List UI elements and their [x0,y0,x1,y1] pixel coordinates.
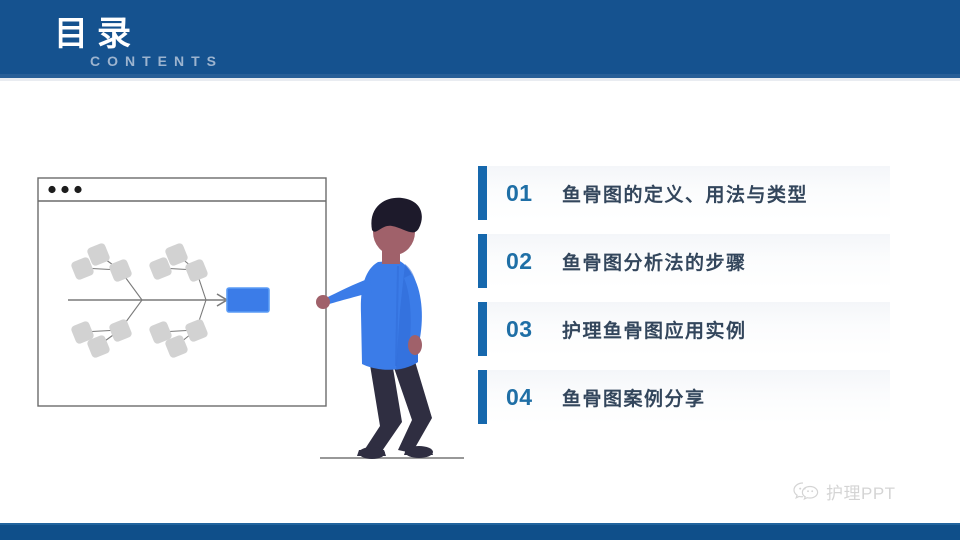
page-subtitle: CONTENTS [90,52,223,70]
header-underline [0,78,960,81]
browser-dot-icon [74,186,81,193]
footer-sheen [0,523,960,525]
menu-item-label: 鱼骨图分析法的步骤 [562,248,747,275]
browser-dot-icon [61,186,68,193]
menu-accent-bar [478,302,487,356]
presentation-slide: 目录 CONTENTS [0,0,960,540]
page-title: 目录 [54,14,140,54]
menu-item-label: 鱼骨图的定义、用法与类型 [562,180,808,207]
menu-item-02[interactable]: 02 鱼骨图分析法的步骤 [478,234,890,288]
wechat-icon [793,481,819,501]
menu-item-label: 鱼骨图案例分享 [562,384,706,411]
watermark-text: 护理PPT [826,479,896,504]
menu-accent-bar [478,234,487,288]
browser-mockup [38,178,326,406]
menu-item-label: 护理鱼骨图应用实例 [562,316,747,343]
menu-item-number: 04 [506,384,544,411]
hand [316,295,330,309]
person-standing [316,198,433,459]
menu-accent-bar [478,166,487,220]
menu-item-01[interactable]: 01 鱼骨图的定义、用法与类型 [478,166,890,220]
menu-item-03[interactable]: 03 护理鱼骨图应用实例 [478,302,890,356]
menu-item-number: 03 [506,316,544,343]
menu-item-number: 02 [506,248,544,275]
watermark: 护理PPT [793,477,953,505]
hand [408,335,422,355]
contents-menu: 01 鱼骨图的定义、用法与类型 02 鱼骨图分析法的步骤 03 护理鱼骨图应用实… [478,166,890,424]
menu-item-04[interactable]: 04 鱼骨图案例分享 [478,370,890,424]
menu-accent-bar [478,370,487,424]
title-block: 目录 CONTENTS [46,14,376,76]
browser-dot-icon [48,186,55,193]
illustration-area [20,150,480,480]
menu-item-number: 01 [506,180,544,207]
slide-footer [0,523,960,540]
fishbone-head-box [227,288,269,312]
